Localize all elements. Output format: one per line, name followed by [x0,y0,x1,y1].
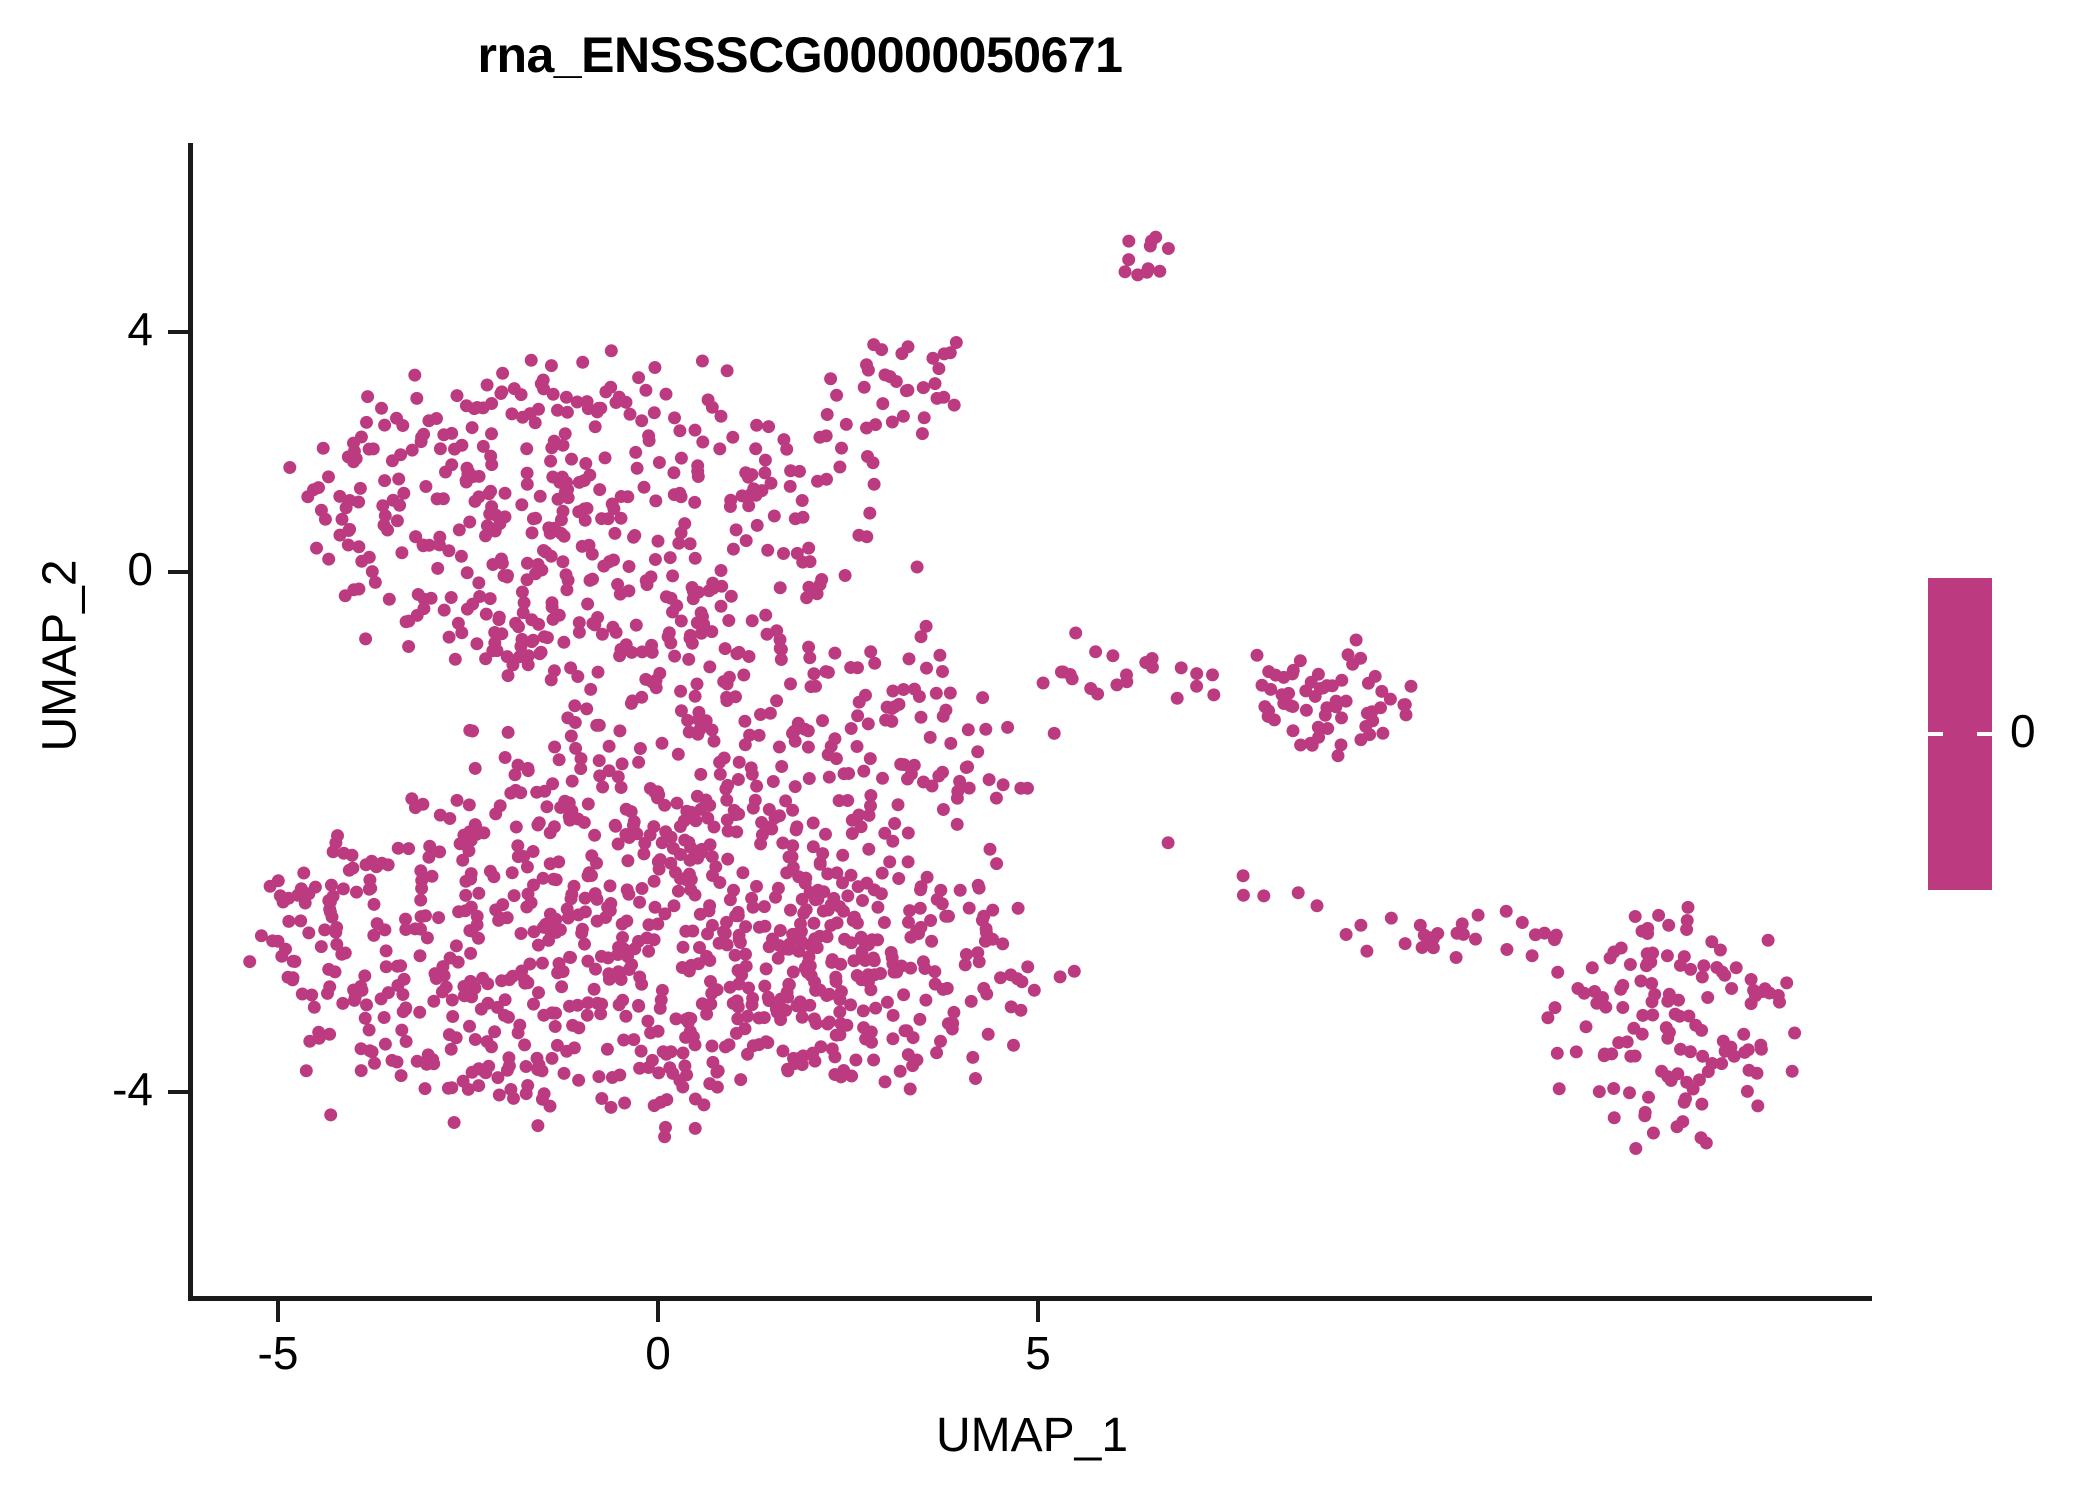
x-tick-label-5: 5 [1025,1330,1051,1376]
legend-colorbar: 0 [1928,578,1992,890]
colorbar-tick-right [1977,732,1992,736]
x-tick-label-minus5: -5 [258,1330,299,1376]
colorbar-tick-label-0: 0 [2010,708,2036,754]
y-axis-title: UMAP_2 [33,456,88,856]
y-tick-label-0: 0 [127,546,153,592]
y-tick-mark-4 [168,330,190,334]
scatter-points-layer [192,143,1872,1298]
y-tick-label-4: 4 [127,306,153,352]
x-axis-line [188,1296,1872,1301]
y-tick-mark-minus4 [168,1090,190,1094]
y-axis-line [188,143,193,1301]
x-tick-mark-minus5 [276,1300,280,1322]
x-tick-label-0: 0 [645,1330,671,1376]
page-title: rna_ENSSSCG00000050671 [0,26,1600,84]
x-tick-mark-0 [656,1300,660,1322]
y-tick-mark-0 [168,570,190,574]
chart-figure: rna_ENSSSCG00000050671 4 0 -4 -5 0 5 UMA… [0,0,2100,1500]
colorbar-tick-left [1928,732,1943,736]
y-tick-label-minus4: -4 [112,1066,153,1112]
plot-panel [192,143,1872,1298]
x-axis-title: UMAP_1 [192,1408,1872,1463]
x-tick-mark-5 [1036,1300,1040,1322]
